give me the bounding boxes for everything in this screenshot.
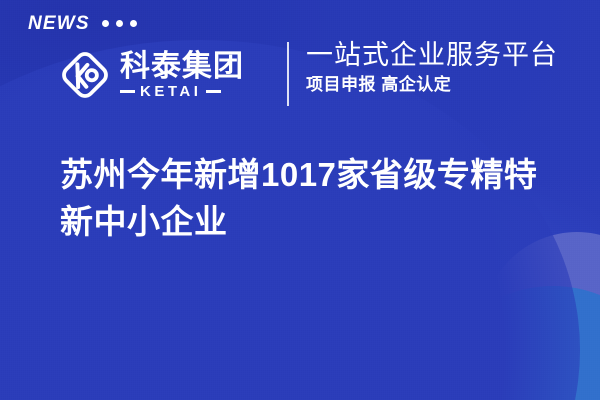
news-dots-icon — [102, 20, 137, 27]
news-dot — [130, 20, 137, 27]
brand-name-en: KETAI — [140, 84, 201, 99]
news-kicker: NEWS — [28, 14, 137, 33]
brand-wordmark: 科泰集团 KETAI — [120, 51, 244, 100]
news-dot — [116, 20, 123, 27]
ketai-diamond-k-logo-icon — [56, 46, 114, 104]
vertical-divider — [287, 42, 289, 106]
headline: 苏州今年新增1017家省级专精特新中小企业 — [60, 152, 568, 246]
brand-name-cn: 科泰集团 — [120, 51, 244, 83]
tagline-main: 一站式企业服务平台 — [306, 41, 558, 71]
news-label: NEWS — [28, 14, 90, 33]
brand-rule-right — [206, 90, 221, 93]
tagline-sub: 项目申报 高企认定 — [306, 75, 558, 95]
news-banner: NEWS 科泰集团 KETAI — [0, 0, 600, 400]
brand-lockup: 科泰集团 KETAI — [56, 42, 244, 108]
brand-name-en-row: KETAI — [120, 84, 244, 99]
tagline-block: 一站式企业服务平台 项目申报 高企认定 — [306, 41, 558, 94]
brand-rule-left — [120, 90, 135, 93]
news-dot — [102, 20, 109, 27]
